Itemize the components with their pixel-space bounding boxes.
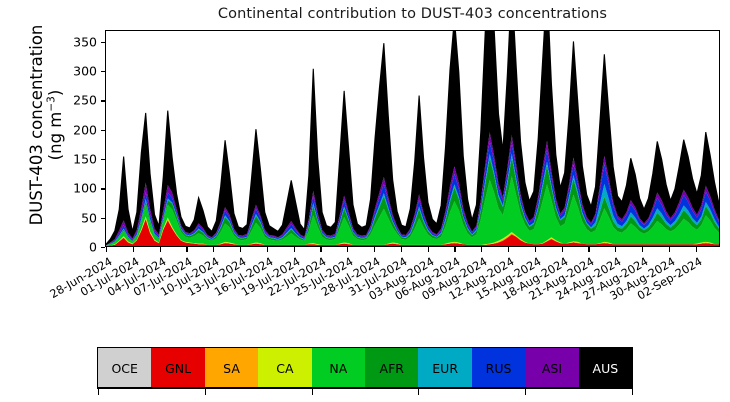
y-tick-mark <box>101 159 106 160</box>
x-tick-mark <box>401 247 402 252</box>
x-tick-mark <box>160 247 161 252</box>
legend-cell-rus[interactable]: RUS <box>472 348 525 388</box>
y-axis-label-line1: DUST-403 concentration <box>27 25 46 226</box>
x-tick-mark <box>669 247 670 252</box>
legend-tick-mark <box>632 387 633 395</box>
x-tick-mark <box>106 247 107 252</box>
y-tick-label: 300 <box>63 64 97 79</box>
legend-cell-eur[interactable]: EUR <box>418 348 471 388</box>
x-tick-mark <box>481 247 482 252</box>
y-tick-mark <box>101 130 106 131</box>
x-tick-mark <box>240 247 241 252</box>
legend-cell-sa[interactable]: SA <box>205 348 258 388</box>
y-axis-label-exponent: −3 <box>46 96 58 111</box>
x-tick-mark <box>562 247 563 252</box>
y-tick-label: 350 <box>63 34 97 49</box>
legend-cell-afr[interactable]: AFR <box>365 348 418 388</box>
y-tick-label: 200 <box>63 122 97 137</box>
x-tick-mark <box>454 247 455 252</box>
y-tick-mark <box>101 71 106 72</box>
x-tick-mark <box>374 247 375 252</box>
legend-colorbar: OCEGNLSACANAAFREURRUSASIAUS <box>97 347 633 389</box>
legend-cell-asi[interactable]: ASI <box>525 348 578 388</box>
legend-cell-aus[interactable]: AUS <box>579 348 632 388</box>
y-tick-mark <box>101 218 106 219</box>
plot-frame <box>105 30 720 247</box>
legend-ticks <box>97 387 633 396</box>
y-tick-label: 0 <box>63 240 97 255</box>
x-tick-mark <box>696 247 697 252</box>
x-tick-mark <box>320 247 321 252</box>
x-tick-mark <box>133 247 134 252</box>
legend-tick-mark <box>418 387 419 395</box>
x-tick-mark <box>294 247 295 252</box>
legend-tick-mark <box>312 387 313 395</box>
x-tick-mark <box>186 247 187 252</box>
plot-area <box>106 31 719 246</box>
y-tick-mark <box>101 100 106 101</box>
x-tick-mark <box>213 247 214 252</box>
legend-cell-gnl[interactable]: GNL <box>151 348 204 388</box>
chart-title: Continental contribution to DUST-403 con… <box>105 6 720 22</box>
x-tick-mark <box>267 247 268 252</box>
y-tick-mark <box>101 247 106 248</box>
legend-cell-oce[interactable]: OCE <box>98 348 151 388</box>
legend-cell-na[interactable]: NA <box>312 348 365 388</box>
y-tick-label: 250 <box>63 93 97 108</box>
x-tick-mark <box>347 247 348 252</box>
x-tick-mark <box>588 247 589 252</box>
x-tick-mark <box>615 247 616 252</box>
x-tick-mark <box>535 247 536 252</box>
x-tick-mark <box>508 247 509 252</box>
x-tick-mark <box>428 247 429 252</box>
stacked-area-series <box>106 31 719 246</box>
x-tick-mark <box>642 247 643 252</box>
y-tick-label: 50 <box>63 210 97 225</box>
legend-cell-ca[interactable]: CA <box>258 348 311 388</box>
legend-tick-mark <box>205 387 206 395</box>
y-tick-label: 150 <box>63 152 97 167</box>
legend-tick-mark <box>98 387 99 395</box>
y-tick-label: 100 <box>63 181 97 196</box>
y-tick-mark <box>101 188 106 189</box>
y-tick-mark <box>101 42 106 43</box>
legend-tick-mark <box>525 387 526 395</box>
